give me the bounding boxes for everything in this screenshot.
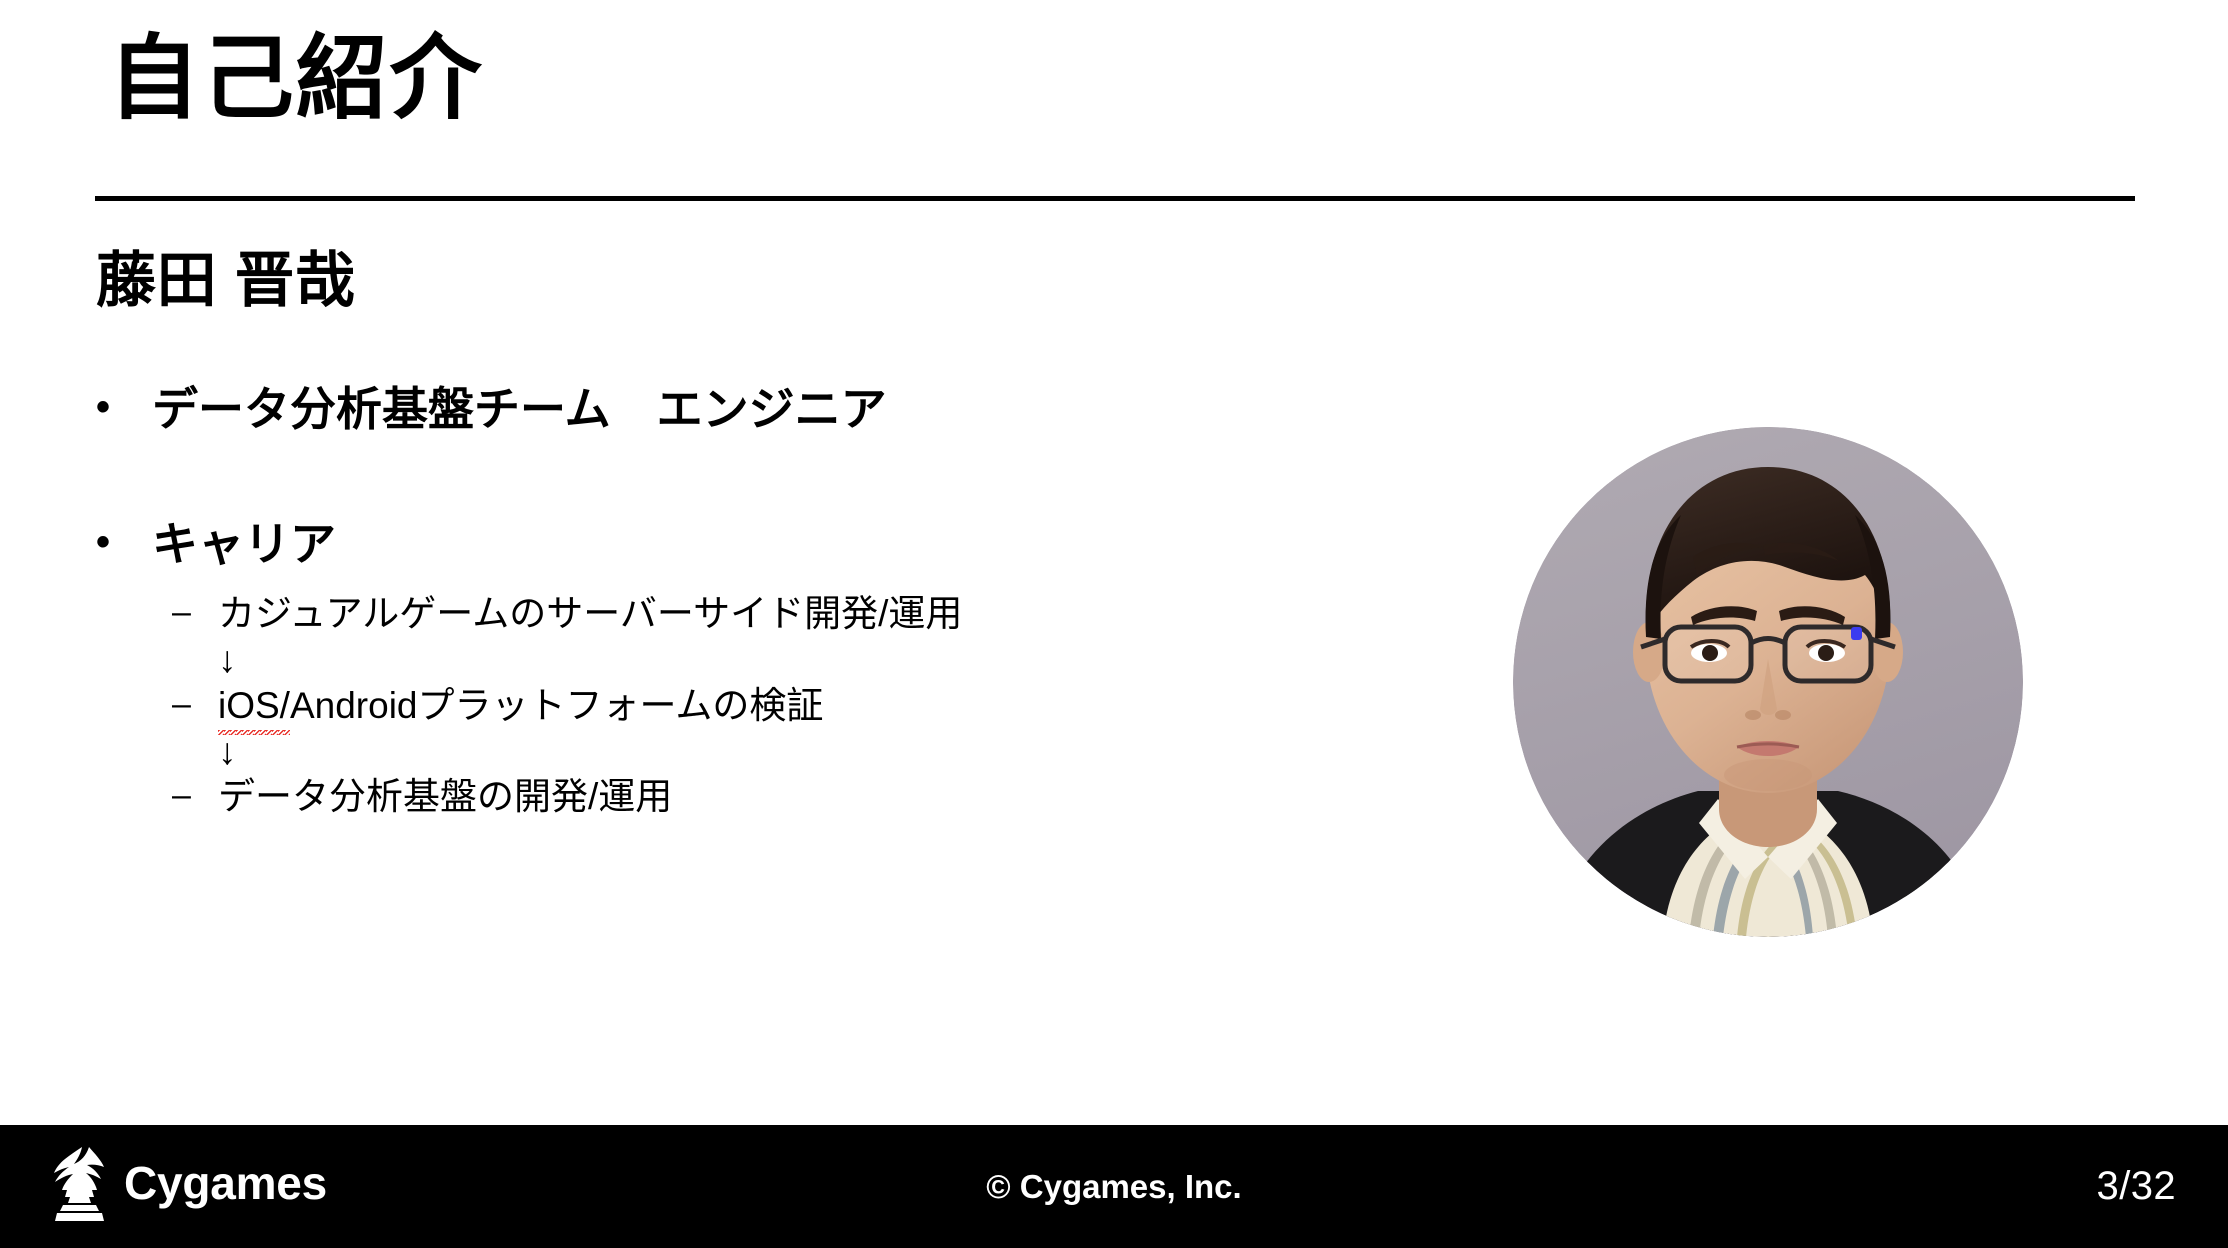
page-title: 自己紹介 [108,28,483,131]
bullet-dot-icon: • [96,380,152,435]
spellcheck-underline: iOS/ [218,682,290,730]
list-item: – データ分析基盤の開発/運用 [172,773,1336,821]
glasses-glint [1851,627,1862,640]
down-arrow-icon: ↓ [172,638,1336,682]
slide-root: 自己紹介 藤田 晋哉 • データ分析基盤チーム エンジニア • キャリア – カ… [0,0,2228,1248]
career-step-1-label: カジュアルゲームのサーバーサイド開発/運用 [218,590,1336,638]
bullet-label-role: データ分析基盤チーム エンジニア [152,380,1336,439]
bullet-dot-icon: • [96,515,152,570]
career-step-2-rest: Androidプラットフォームの検証 [290,685,823,726]
title-divider [95,196,2135,201]
profile-photo [1513,427,2023,937]
page-number: 3/32 [2097,1125,2176,1248]
dash-bullet-icon: – [172,773,218,819]
portrait-illustration [1513,427,2023,937]
down-arrow-icon: ↓ [172,730,1336,774]
avatar [1513,427,2023,937]
footer-copyright: © Cygames, Inc. [0,1125,2228,1248]
career-step-3-label: データ分析基盤の開発/運用 [218,773,1336,821]
dash-bullet-icon: – [172,590,218,636]
bullet-spacer [96,449,1336,515]
career-sub-list: – カジュアルゲームのサーバーサイド開発/運用 ↓ – iOS/Androidプ… [96,590,1336,822]
bullet-item-role: • データ分析基盤チーム エンジニア [96,380,1336,439]
dash-bullet-icon: – [172,682,218,728]
career-step-2-label: iOS/Androidプラットフォームの検証 [218,682,1336,730]
bullet-label-career: キャリア [152,515,1336,574]
list-item: – カジュアルゲームのサーバーサイド開発/運用 [172,590,1336,638]
bullet-item-career: • キャリア [96,515,1336,574]
body-content: • データ分析基盤チーム エンジニア • キャリア – カジュアルゲームのサーバ… [96,380,1336,821]
footer-bar: Cygames © Cygames, Inc. 3/32 [0,1125,2228,1248]
list-item: – iOS/Androidプラットフォームの検証 [172,682,1336,730]
person-name-heading: 藤田 晋哉 [96,232,356,319]
